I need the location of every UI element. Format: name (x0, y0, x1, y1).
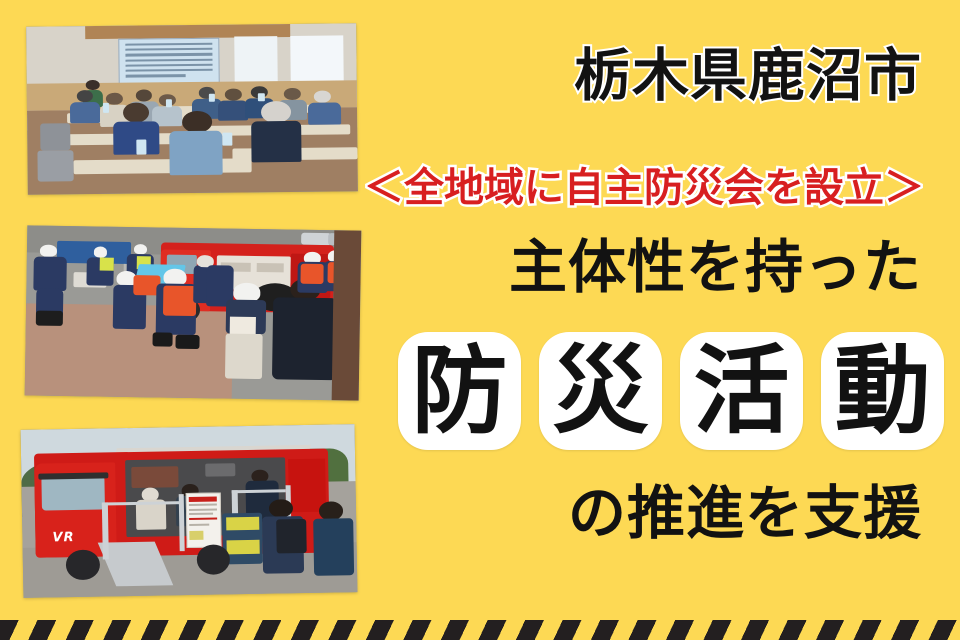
photo-seminar (26, 23, 358, 194)
photo-vr-truck: VR (21, 424, 358, 598)
poster-canvas: VR 栃木県鹿沼市 ＜全地域に自主防災会を設立＞ 主体性を持った 防 災 活 動… (0, 0, 960, 640)
closing-line: の推進を支援 (568, 484, 922, 542)
boxed-word-group: 防 災 活 動 (398, 332, 944, 450)
subtitle-bracketed: ＜全地域に自主防災会を設立＞ (364, 168, 924, 208)
photo-seminar-scene (26, 23, 358, 194)
hazard-stripe-footer (0, 620, 960, 640)
kanji-box-2: 災 (539, 332, 662, 450)
kanji-box-3: 活 (680, 332, 803, 450)
photo-drill-scene (25, 225, 362, 400)
lead-line: 主体性を持った (509, 238, 922, 296)
kanji-box-1: 防 (398, 332, 521, 450)
kanji-box-4: 動 (821, 332, 944, 450)
photo-vrtruck-scene: VR (21, 424, 358, 598)
city-name-heading: 栃木県鹿沼市 (574, 48, 922, 105)
photo-evacuation-drill (25, 225, 362, 400)
